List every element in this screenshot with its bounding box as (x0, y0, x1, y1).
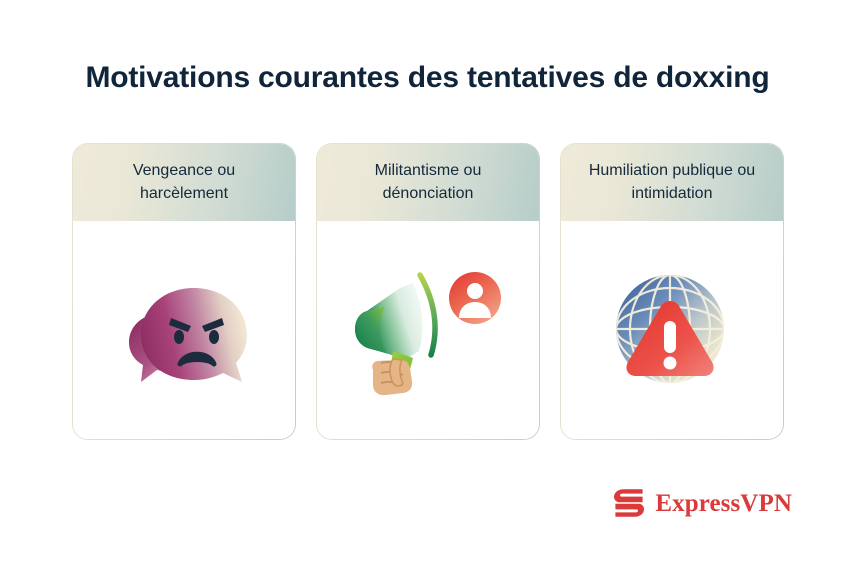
card-revenge-title: Vengeance ou harcèlement (87, 160, 281, 204)
right-eye-icon (209, 330, 219, 344)
megaphone-person-icon (343, 263, 513, 398)
brand-logo: ExpressVPN (612, 487, 792, 519)
page-title: Motivations courantes des tentatives de … (0, 60, 855, 96)
angry-speech-bubble-icon (109, 266, 259, 396)
expressvpn-logo-icon (612, 487, 646, 519)
card-revenge: Vengeance ou harcèlement (72, 143, 296, 440)
cards-row: Vengeance ou harcèlement (72, 143, 784, 440)
globe-warning-icon (602, 263, 742, 398)
logo-top-stroke (614, 489, 643, 502)
card-public-humiliation-body (561, 221, 783, 440)
main-speech-bubble (141, 288, 247, 382)
card-revenge-header: Vengeance ou harcèlement (73, 144, 295, 221)
card-activism: Militantisme ou dénonciation (316, 143, 540, 440)
avatar-head-icon (467, 283, 483, 299)
card-activism-title: Militantisme ou dénonciation (331, 160, 525, 204)
logo-bottom-stroke (616, 504, 645, 517)
infographic-root: Motivations courantes des tentatives de … (0, 0, 855, 561)
card-public-humiliation-title: Humiliation publique ou intimidation (575, 160, 769, 204)
left-eye-icon (174, 330, 184, 344)
card-activism-header: Militantisme ou dénonciation (317, 144, 539, 221)
sound-arc-icon (420, 275, 435, 355)
card-revenge-body (73, 221, 295, 440)
card-activism-body (317, 221, 539, 440)
brand-name: ExpressVPN (655, 491, 792, 516)
card-public-humiliation: Humiliation publique ou intimidation (560, 143, 784, 440)
exclamation-bar (664, 321, 676, 353)
card-public-humiliation-header: Humiliation publique ou intimidation (561, 144, 783, 221)
exclamation-dot (664, 357, 677, 370)
